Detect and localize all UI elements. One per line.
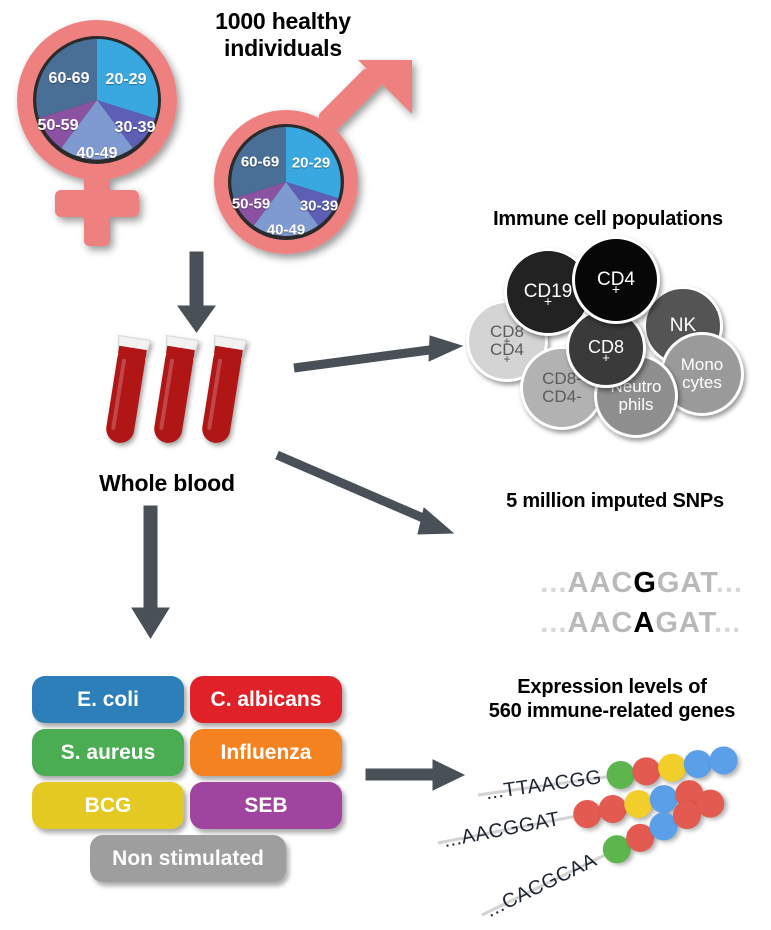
strand-sequence: ...CACGCAA bbox=[482, 849, 600, 923]
cell-label-line-2: phils bbox=[610, 396, 661, 414]
cell-label-line-1: CD4+ bbox=[597, 270, 635, 290]
strand-sequence: ...AACGGAT bbox=[442, 808, 562, 853]
cell-label-line-2: cytes bbox=[681, 374, 724, 392]
cell-label-line-2: CD4+ bbox=[490, 341, 524, 359]
nucleotide-dot bbox=[708, 745, 740, 777]
immune-cell-cd4: CD4+ bbox=[572, 236, 660, 324]
cell-label-line-2: CD4- bbox=[542, 388, 582, 406]
cell-label-line-1: CD8+ bbox=[588, 338, 624, 357]
nucleotide-dot bbox=[605, 759, 637, 791]
cell-label-line-1: Mono bbox=[681, 356, 724, 374]
gene-expression-strands: ...TTAACGG ...AACGGAT ...CACGCAA bbox=[0, 0, 771, 922]
cell-label-line-1: CD19+ bbox=[524, 282, 573, 302]
figure-canvas: 1000 healthy individuals bbox=[0, 0, 771, 922]
